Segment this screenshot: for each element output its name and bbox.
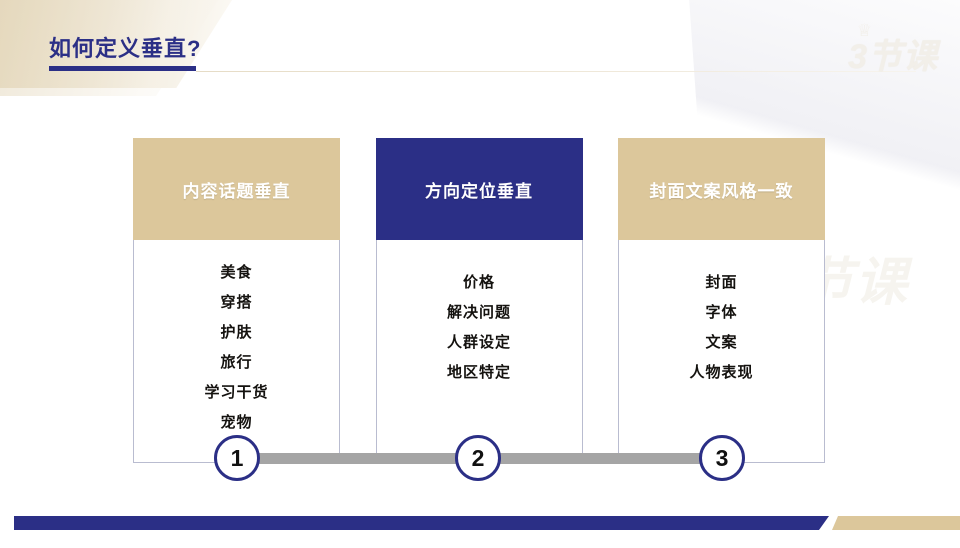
- title-divider-rule: [196, 71, 916, 72]
- list-item: 护肤: [134, 318, 339, 348]
- step-badge-2: 2: [455, 435, 501, 481]
- page-title: 如何定义垂直?: [49, 34, 201, 71]
- list-item: 解决问题: [377, 298, 582, 328]
- column-direction-position: 方向定位垂直 价格 解决问题 人群设定 地区特定: [376, 138, 583, 463]
- step-badge-1: 1: [214, 435, 260, 481]
- step-badge-number: 2: [472, 447, 485, 470]
- list-item: 学习干货: [134, 378, 339, 408]
- step-badge-number: 1: [231, 447, 244, 470]
- list-item: 穿搭: [134, 288, 339, 318]
- list-item: 宠物: [134, 408, 339, 438]
- list-item: 字体: [619, 298, 824, 328]
- column-header-label: 封面文案风格一致: [650, 177, 794, 202]
- step-badge-3: 3: [699, 435, 745, 481]
- title-underline: [49, 66, 196, 71]
- brand-watermark-logo: 3节课: [818, 30, 938, 84]
- step-badge-number: 3: [716, 447, 729, 470]
- slide-canvas: 如何定义垂直? ♕ 3节课 3节课 内容话题垂直 美食 穿搭 护肤 旅行 学习干…: [0, 0, 960, 548]
- column-header-label: 内容话题垂直: [183, 177, 291, 202]
- list-item: 美食: [134, 258, 339, 288]
- list-item: 人群设定: [377, 328, 582, 358]
- list-item: 人物表现: [619, 358, 824, 388]
- column-header-1: 内容话题垂直: [133, 138, 340, 240]
- column-header-label: 方向定位垂直: [425, 177, 533, 202]
- page-title-text: 如何定义垂直?: [49, 34, 201, 64]
- column-body-2: 价格 解决问题 人群设定 地区特定: [376, 240, 583, 463]
- column-body-3: 封面 字体 文案 人物表现: [618, 240, 825, 463]
- column-body-1: 美食 穿搭 护肤 旅行 学习干货 宠物: [133, 240, 340, 463]
- column-group: 内容话题垂直 美食 穿搭 护肤 旅行 学习干货 宠物 方向定位垂直 价格 解决问…: [133, 138, 825, 463]
- footer-bar-navy: [14, 516, 829, 530]
- list-item: 地区特定: [377, 358, 582, 388]
- column-header-3: 封面文案风格一致: [618, 138, 825, 240]
- column-header-2: 方向定位垂直: [376, 138, 583, 240]
- footer-bar-tan: [832, 516, 960, 530]
- list-item: 价格: [377, 268, 582, 298]
- list-item: 封面: [619, 268, 824, 298]
- column-content-topic: 内容话题垂直 美食 穿搭 护肤 旅行 学习干货 宠物: [133, 138, 340, 463]
- list-item: 旅行: [134, 348, 339, 378]
- column-cover-copy-style: 封面文案风格一致 封面 字体 文案 人物表现: [618, 138, 825, 463]
- list-item: 文案: [619, 328, 824, 358]
